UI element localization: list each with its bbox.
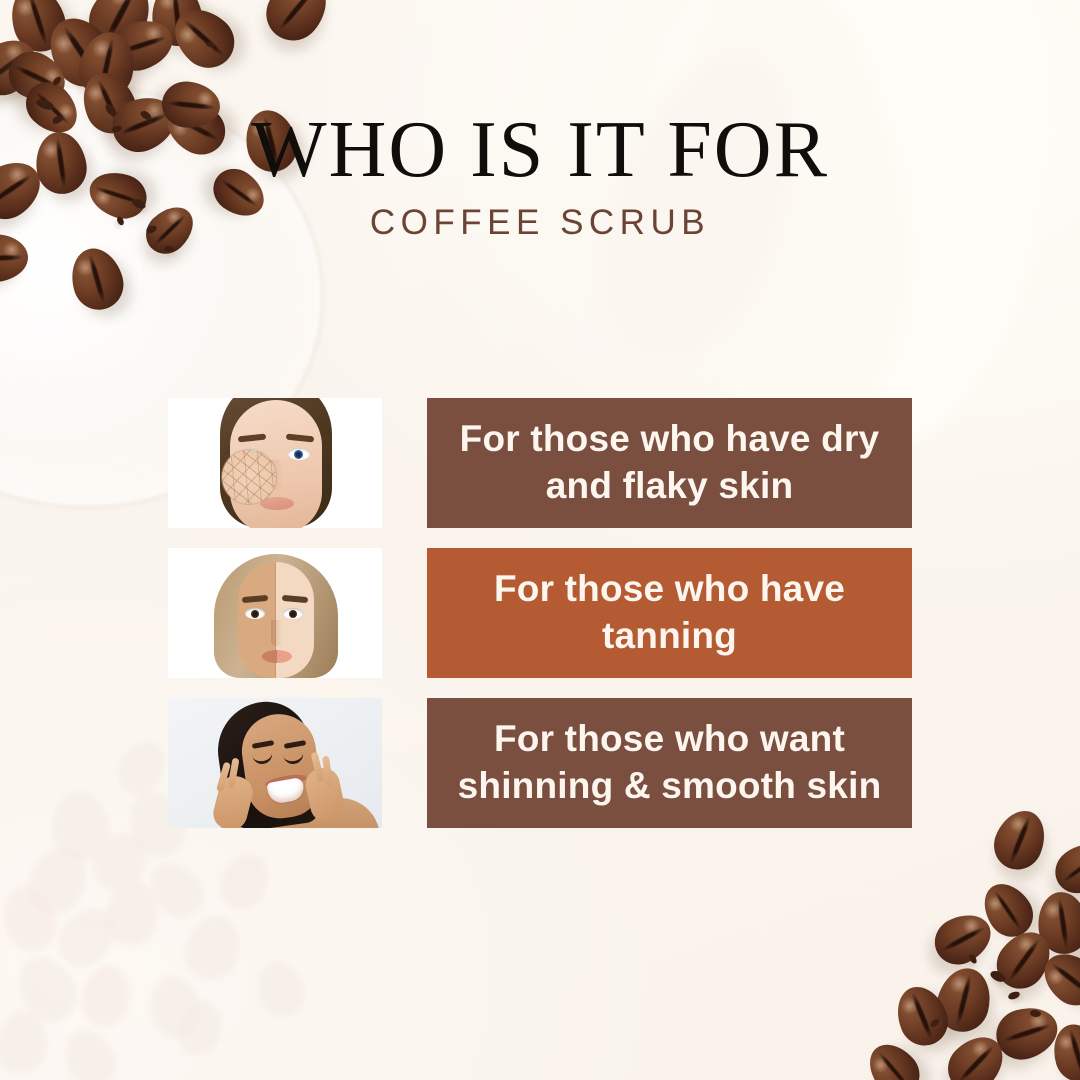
poster-canvas: WHO IS IT FOR COFFEE SCRUB (0, 0, 1080, 1080)
benefit-banner: For those who want shinning & smooth ski… (427, 698, 912, 828)
iris-shape (251, 610, 259, 618)
iris-shape (294, 450, 303, 459)
photo-illustration (168, 398, 382, 528)
benefit-text: For those who want shinning & smooth ski… (445, 716, 894, 809)
list-item: For those who want shinning & smooth ski… (168, 698, 912, 828)
list-item: For those who have tanning (168, 548, 912, 678)
lips-shape (260, 497, 294, 510)
benefit-text: For those who have dry and flaky skin (445, 416, 894, 509)
dry-flaky-skin-photo (168, 398, 382, 528)
page-subtitle: COFFEE SCRUB (0, 203, 1080, 243)
photo-illustration (168, 698, 382, 828)
benefit-banner: For those who have tanning (427, 548, 912, 678)
nose-shape (271, 620, 282, 646)
page-title: WHO IS IT FOR (0, 112, 1080, 189)
poster-header: WHO IS IT FOR COFFEE SCRUB (0, 112, 1080, 243)
photo-illustration (168, 548, 382, 678)
list-item: For those who have dry and flaky skin (168, 398, 912, 528)
benefit-banner: For those who have dry and flaky skin (427, 398, 912, 528)
iris-shape (289, 610, 297, 618)
benefit-text: For those who have tanning (445, 566, 894, 659)
glowing-smooth-skin-photo (168, 698, 382, 828)
dry-skin-magnifier-icon (222, 450, 276, 504)
tanning-comparison-photo (168, 548, 382, 678)
benefit-rows: For those who have dry and flaky skin (168, 398, 912, 848)
lips-shape (262, 650, 292, 663)
